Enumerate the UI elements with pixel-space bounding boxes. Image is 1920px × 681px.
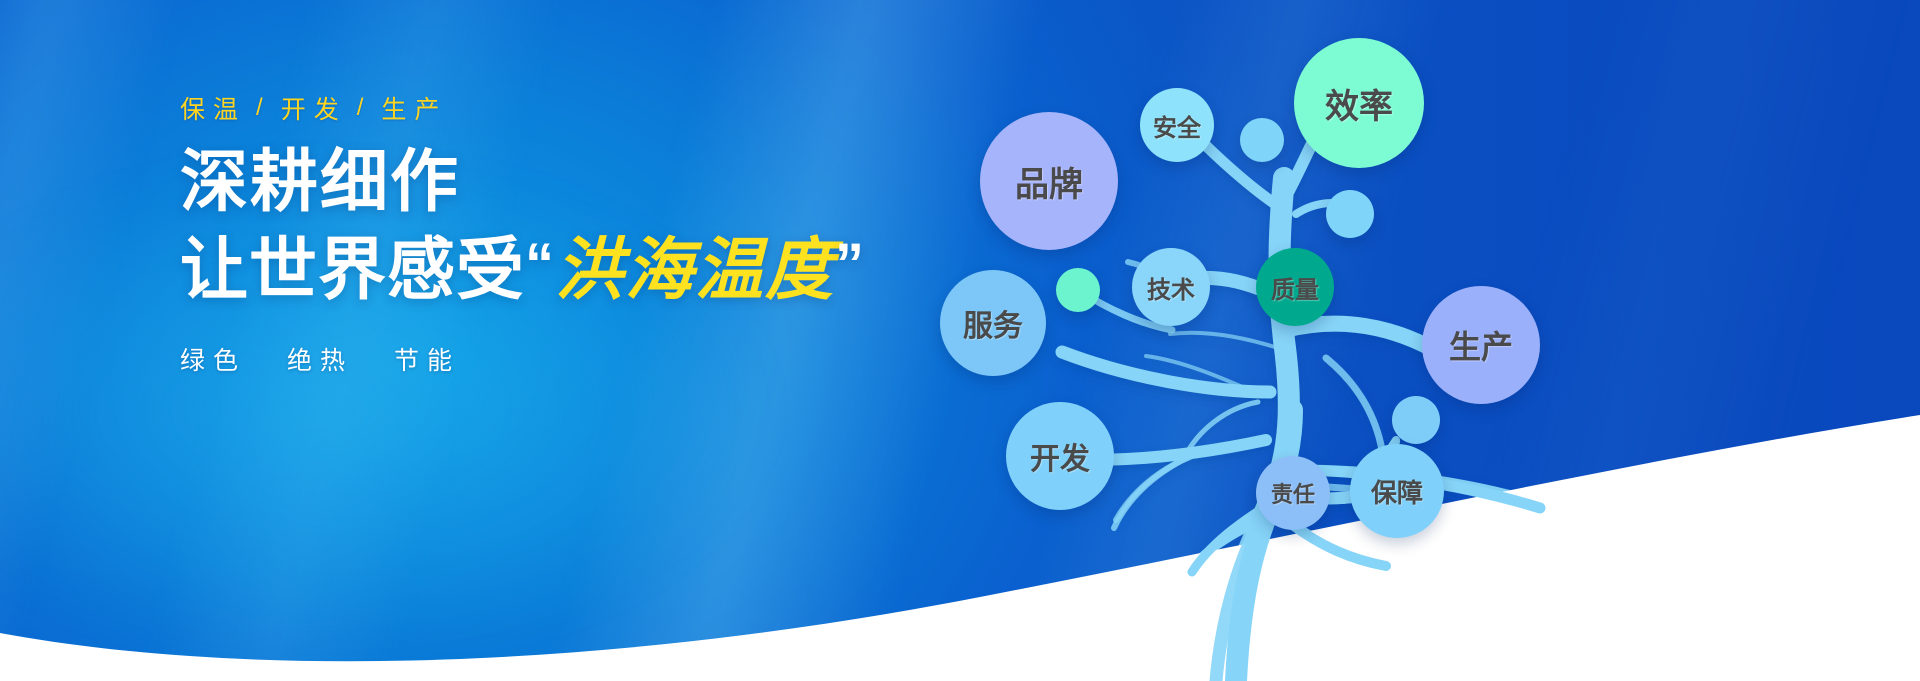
keyword-bubble-效率: 效率 — [1294, 38, 1424, 168]
keyword-bubble-label: 效率 — [1325, 79, 1393, 128]
sub-tagline-item-0: 绿色 — [180, 347, 246, 375]
keyword-bubble-保障: 保障 — [1350, 444, 1444, 538]
eyebrow-separator-0: / — [256, 94, 263, 122]
decorative-dot-7 — [1056, 268, 1100, 312]
headline-line-1: 深耕细作 — [180, 148, 940, 217]
eyebrow-item-2: 生产 — [381, 90, 447, 126]
eyebrow-item-0: 保温 — [180, 90, 246, 126]
keyword-bubble-label: 服务 — [963, 301, 1023, 345]
eyebrow-separator-1: / — [357, 94, 364, 122]
decorative-dot-2 — [1240, 118, 1284, 162]
keyword-bubble-服务: 服务 — [940, 270, 1046, 376]
headline-line-2: 让世界感受“洪海温度” — [180, 235, 940, 306]
hero-banner: 保温 / 开发 / 生产 深耕细作 让世界感受“洪海温度” 绿色 绝热 节能 品… — [0, 0, 1920, 681]
keyword-bubble-品牌: 品牌 — [980, 112, 1118, 250]
keyword-bubble-label: 开发 — [1030, 434, 1090, 478]
eyebrow-item-1: 开发 — [281, 90, 347, 126]
sub-tagline-item-1: 绝热 — [287, 347, 353, 375]
keyword-bubble-责任: 责任 — [1256, 456, 1330, 530]
sub-tagline-item-2: 节能 — [394, 347, 460, 375]
keyword-bubble-label: 质量 — [1271, 270, 1319, 305]
keyword-bubble-开发: 开发 — [1006, 402, 1114, 510]
keyword-bubble-layer: 品牌安全效率技术质量服务生产开发责任保障 — [940, 0, 1920, 681]
decorative-dot-10 — [1392, 396, 1440, 444]
keyword-bubble-安全: 安全 — [1140, 88, 1214, 162]
keyword-bubble-label: 技术 — [1147, 270, 1195, 305]
quote-close: ” — [835, 232, 865, 297]
hero-copy: 保温 / 开发 / 生产 深耕细作 让世界感受“洪海温度” 绿色 绝热 节能 — [180, 90, 940, 377]
decorative-dot-4 — [1326, 190, 1374, 238]
eyebrow-tagline: 保温 / 开发 / 生产 — [180, 90, 940, 126]
quote-open: “ — [525, 232, 555, 297]
keyword-bubble-技术: 技术 — [1132, 248, 1210, 326]
keyword-bubble-label: 品牌 — [1015, 157, 1083, 206]
keyword-bubble-label: 保障 — [1371, 473, 1423, 510]
keyword-bubble-label: 安全 — [1153, 108, 1201, 143]
headline-accent: 洪海温度 — [555, 232, 835, 308]
keyword-bubble-label: 责任 — [1271, 477, 1315, 509]
headline-line-2-prefix: 让世界感受 — [180, 232, 525, 308]
keyword-bubble-质量: 质量 — [1256, 248, 1334, 326]
sub-tagline: 绿色 绝热 节能 — [180, 341, 940, 377]
keyword-bubble-label: 生产 — [1449, 322, 1513, 368]
keyword-bubble-生产: 生产 — [1422, 286, 1540, 404]
